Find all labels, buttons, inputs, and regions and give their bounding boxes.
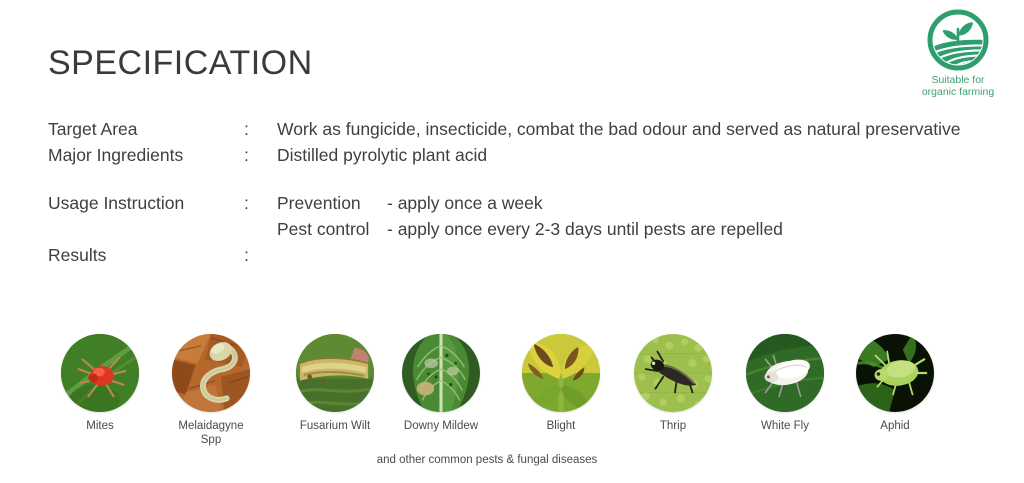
spec-label: Target Area: [48, 116, 244, 142]
green-aphid-photo: [856, 334, 934, 412]
organic-farming-seal-icon: [926, 8, 990, 72]
spec-value: Work as fungicide, insecticide, combat t…: [277, 116, 1008, 142]
spec-label: Major Ingredients: [48, 142, 244, 168]
page-title: SPECIFICATION: [48, 46, 313, 80]
pest-label: Blight: [505, 419, 617, 433]
pest-gallery: Mites Melaidagyne Spp: [0, 334, 1024, 454]
organic-farming-badge: Suitable for organic farming: [904, 8, 1012, 98]
wilted-stem-photo: [296, 334, 374, 412]
pest-item-melaidagyne-spp: Melaidagyne Spp: [155, 334, 267, 447]
thrip-insect-photo: [634, 334, 712, 412]
organic-badge-caption: Suitable for organic farming: [904, 74, 1012, 98]
spec-row-usage-instruction: Usage Instruction : Prevention - apply o…: [48, 190, 1008, 242]
spec-row-target-area: Target Area : Work as fungicide, insecti…: [48, 116, 1008, 142]
pest-footnote-text: and other common pests & fungal diseases: [377, 454, 598, 466]
spec-colon: :: [244, 116, 277, 142]
usage-line-prevention: Prevention - apply once a week: [277, 190, 1008, 216]
nematode-on-soil-photo: [172, 334, 250, 412]
pest-item-downy-mildew: Downy Mildew: [385, 334, 497, 433]
spec-colon: :: [244, 190, 277, 216]
spec-row-results: Results :: [48, 242, 1008, 268]
usage-key: Prevention: [277, 190, 387, 216]
pest-gallery-footnote: and other common pests & fungal diseases: [0, 454, 1024, 466]
pest-label: White Fly: [729, 419, 841, 433]
spec-row-major-ingredients: Major Ingredients : Distilled pyrolytic …: [48, 142, 1008, 168]
pest-label: Thrip: [617, 419, 729, 433]
pest-item-mites: Mites: [44, 334, 156, 433]
pest-item-thrip: Thrip: [617, 334, 729, 433]
mildew-leaf-photo: [402, 334, 480, 412]
spec-value: Prevention - apply once a week Pest cont…: [277, 190, 1008, 242]
pest-label: Fusarium Wilt: [279, 419, 391, 433]
spec-value: Distilled pyrolytic plant acid: [277, 142, 1008, 168]
spec-colon: :: [244, 242, 277, 268]
pest-item-blight: Blight: [505, 334, 617, 433]
red-mite-on-leaf-photo: [61, 334, 139, 412]
usage-line-pest-control: Pest control - apply once every 2-3 days…: [277, 216, 1008, 242]
pest-label: Aphid: [839, 419, 951, 433]
pest-item-white-fly: White Fly: [729, 334, 841, 433]
pest-label: Downy Mildew: [385, 419, 497, 433]
pest-label: Melaidagyne Spp: [155, 419, 267, 447]
usage-value: - apply once every 2-3 days until pests …: [387, 216, 1008, 242]
blighted-yellow-leaf-photo: [522, 334, 600, 412]
white-fly-on-leaf-photo: [746, 334, 824, 412]
usage-key: Pest control: [277, 216, 387, 242]
pest-label: Mites: [44, 419, 156, 433]
usage-value: - apply once a week: [387, 190, 1008, 216]
specification-table: Target Area : Work as fungicide, insecti…: [48, 116, 1008, 268]
spec-colon: :: [244, 142, 277, 168]
pest-item-fusarium-wilt: Fusarium Wilt: [279, 334, 391, 433]
pest-item-aphid: Aphid: [839, 334, 951, 433]
spec-label: Usage Instruction: [48, 190, 244, 216]
spec-label: Results: [48, 242, 244, 268]
